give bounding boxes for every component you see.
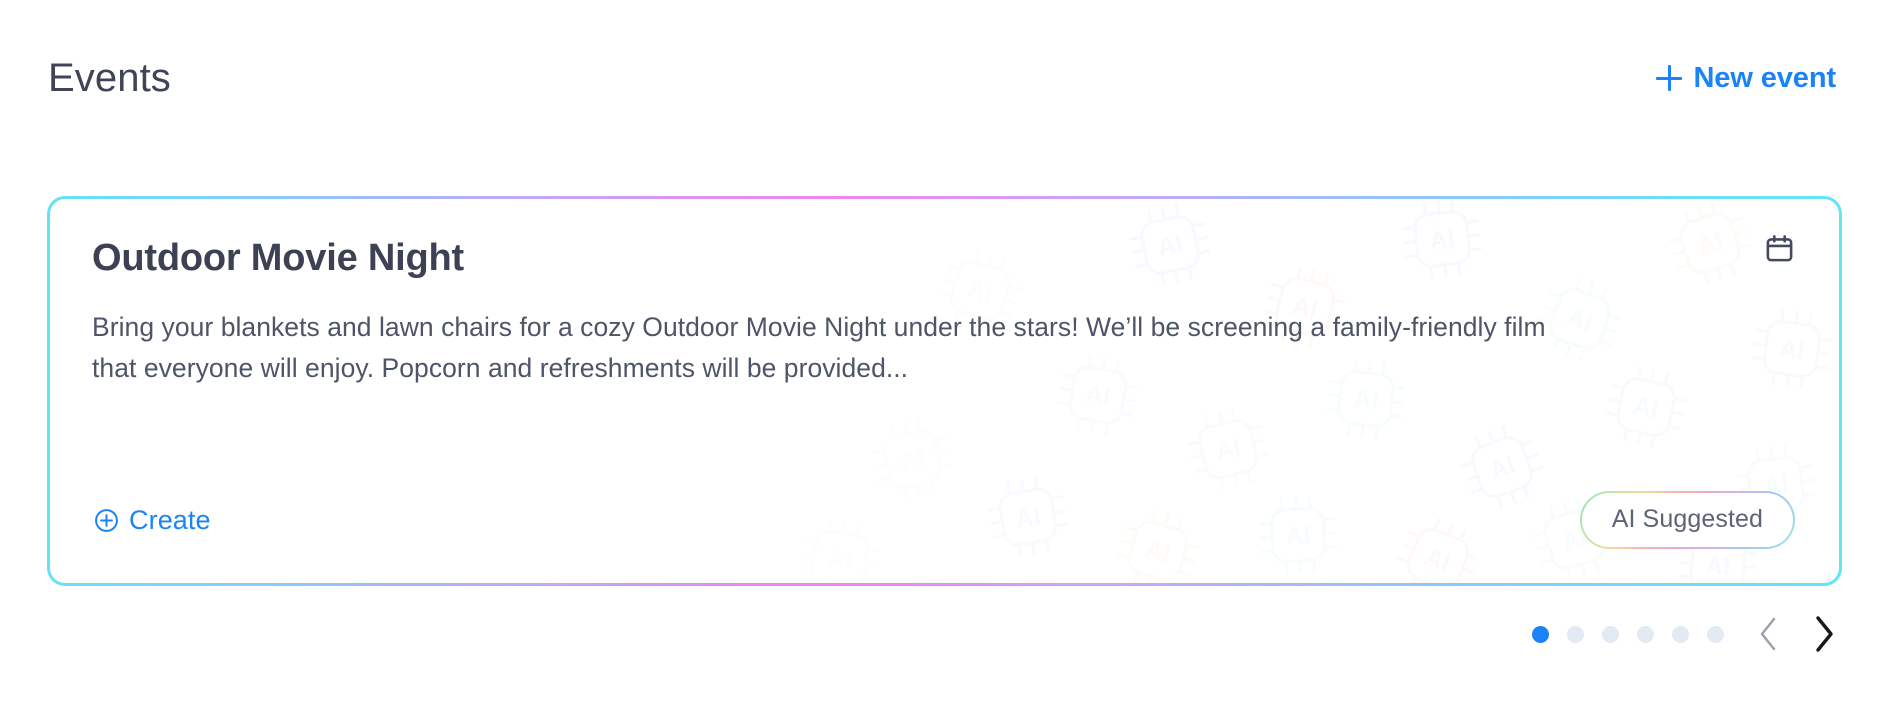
- plus-icon: [1656, 65, 1682, 91]
- event-description: Bring your blankets and lawn chairs for …: [92, 307, 1552, 389]
- carousel-next-button[interactable]: [1802, 612, 1846, 656]
- event-card[interactable]: AI: [47, 196, 1842, 586]
- page-title: Events: [48, 58, 171, 98]
- carousel-dots: [1532, 626, 1724, 643]
- calendar-icon[interactable]: [1764, 233, 1795, 264]
- events-panel: Events New event: [0, 0, 1890, 702]
- new-event-label: New event: [1693, 64, 1836, 93]
- new-event-button[interactable]: New event: [1650, 60, 1842, 97]
- carousel-pagination: [1532, 612, 1846, 656]
- events-header: Events New event: [48, 46, 1842, 110]
- carousel-prev-button[interactable]: [1746, 612, 1790, 656]
- carousel-dot[interactable]: [1637, 626, 1654, 643]
- carousel-dot[interactable]: [1707, 626, 1724, 643]
- carousel-dot[interactable]: [1532, 626, 1549, 643]
- carousel-dot[interactable]: [1567, 626, 1584, 643]
- event-card-content: Outdoor Movie Night Bring your blankets …: [50, 199, 1839, 583]
- carousel-dot[interactable]: [1602, 626, 1619, 643]
- carousel-dot[interactable]: [1672, 626, 1689, 643]
- event-card-surface: AI: [50, 199, 1839, 583]
- event-title: Outdoor Movie Night: [92, 237, 1795, 281]
